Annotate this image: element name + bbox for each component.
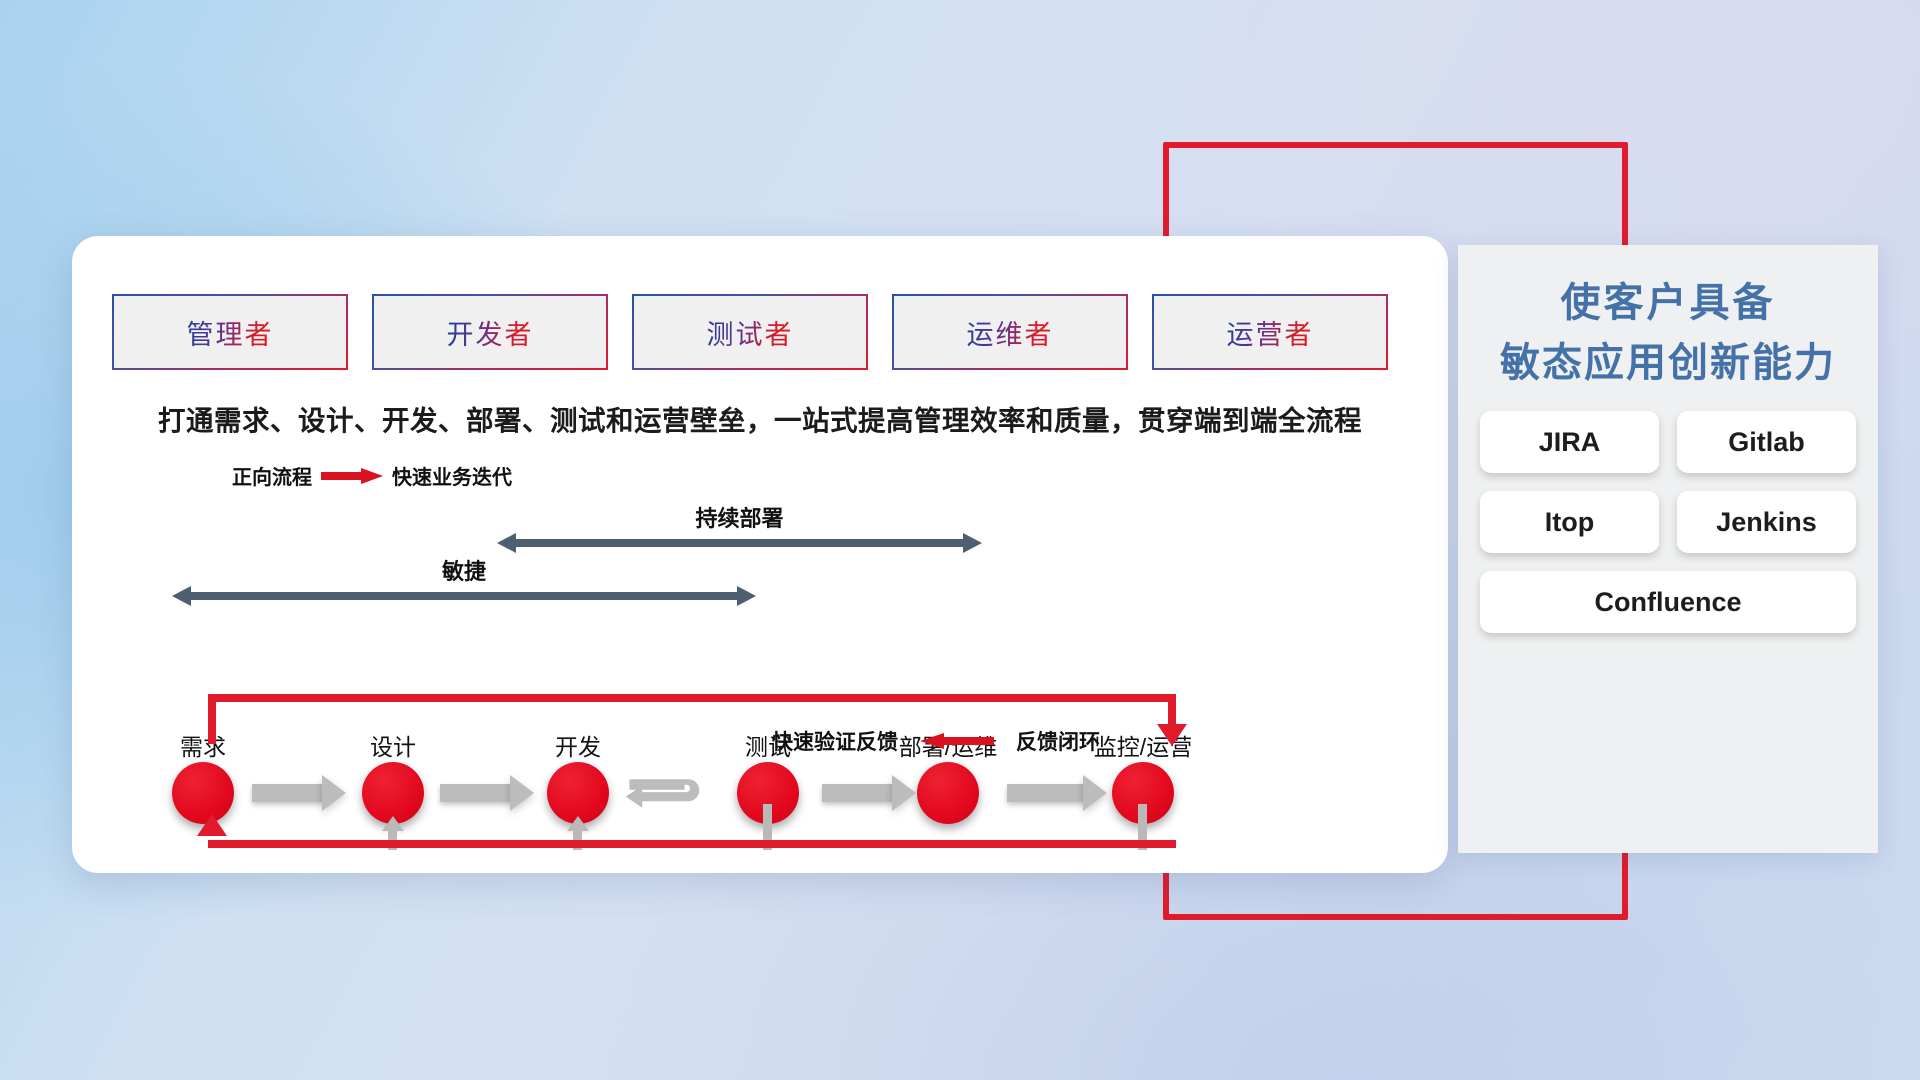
connector-arrow-2-icon [440,775,536,811]
rail-stub-development-head-icon [567,816,589,831]
arrow-head-icon [1083,775,1107,811]
feedback-rail-bottom [208,840,1176,848]
pipeline-node-dot [917,762,979,824]
tool-chip-label: Itop [1545,507,1594,538]
rail-stub-design-head-icon [382,816,404,831]
tool-chip-label: Jenkins [1716,507,1817,538]
slide-stage: 管理者 开发者 测试者 运维者 运营者 打通需求、设计、开发、部署、测试和运营壁… [0,0,1920,1080]
pipeline-node-development[interactable]: 开发 [547,762,609,824]
capability-panel: 使客户具备 敏态应用创新能力 JIRA Gitlab Itop Jenkins … [1458,245,1878,853]
tool-chip-confluence[interactable]: Confluence [1480,571,1856,633]
arrow-shaft [252,784,324,802]
connector-arrow-3-icon [822,775,918,811]
tool-chip-jenkins[interactable]: Jenkins [1677,491,1856,553]
pipeline-node-label: 设计 [370,728,416,762]
tool-chip-grid: JIRA Gitlab Itop Jenkins Confluence [1458,411,1878,633]
arrow-shaft [822,784,894,802]
pipeline-node-deploy-ops[interactable]: 部署/运维 [917,762,979,824]
tool-chip-label: Confluence [1594,587,1741,618]
pipeline: 需求 设计 开发 测试 部署/运维 监控/运营 [72,236,1448,873]
tool-chip-label: JIRA [1539,427,1601,458]
arrow-head-icon [892,775,916,811]
arrow-left-red-icon [920,733,994,749]
feedback-rail-arrow-up-icon [197,814,227,836]
pipeline-node-dot [362,762,424,824]
pipeline-node-design[interactable]: 设计 [362,762,424,824]
connector-arrow-1-icon [252,775,348,811]
panel-title: 使客户具备 敏态应用创新能力 [1458,245,1878,393]
arrow-head-icon [322,775,346,811]
main-content-card: 管理者 开发者 测试者 运维者 运营者 打通需求、设计、开发、部署、测试和运营壁… [72,236,1448,873]
tool-chip-gitlab[interactable]: Gitlab [1677,411,1856,473]
loop-back-arrow-icon [622,770,714,816]
pipeline-node-dot [547,762,609,824]
feedback-rail-left [208,694,216,744]
tool-chip-label: Gitlab [1728,427,1805,458]
legend-feedback-loop: 快速验证反馈 反馈闭环 [772,726,1100,756]
feedback-rail-top [208,694,1176,702]
legend-feedback-right-label: 反馈闭环 [1016,726,1100,756]
legend-feedback-left-label: 快速验证反馈 [772,726,898,756]
feedback-rail-arrow-down-icon [1157,724,1187,746]
tool-chip-jira[interactable]: JIRA [1480,411,1659,473]
panel-title-line-2: 敏态应用创新能力 [1458,333,1878,393]
arrow-shaft [1007,784,1085,802]
tool-chip-itop[interactable]: Itop [1480,491,1659,553]
pipeline-node-label: 需求 [180,728,226,762]
arrow-shaft [440,784,512,802]
connector-arrow-4-icon [1007,775,1109,811]
arrow-head-icon [510,775,534,811]
panel-title-line-1: 使客户具备 [1458,273,1878,333]
pipeline-node-label: 开发 [555,728,601,762]
